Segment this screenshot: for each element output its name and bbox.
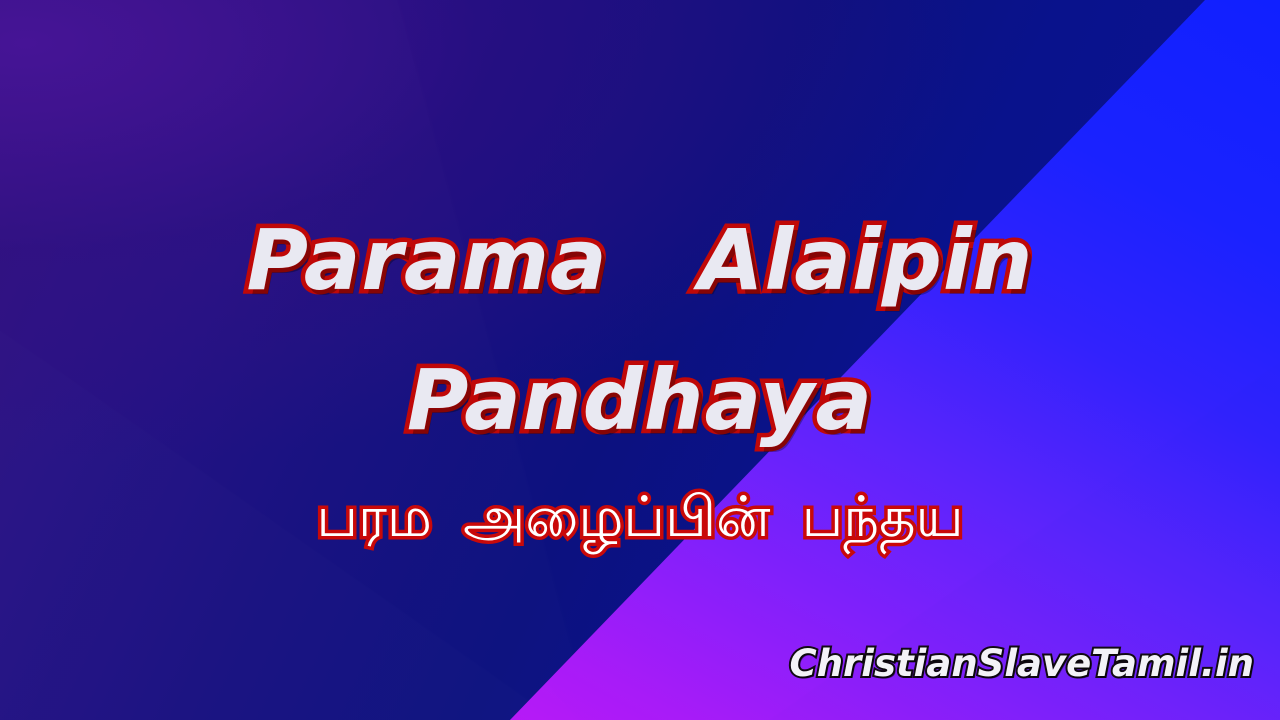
thumbnail-canvas: Parama Alaipin Pandhaya பரம அழைப்பின் பந… [0,0,1280,720]
title-line-1: Parama Alaipin [0,196,1280,324]
title-line-2: Pandhaya [0,336,1280,464]
title-block: Parama Alaipin Pandhaya [0,196,1280,464]
content-layer: Parama Alaipin Pandhaya பரம அழைப்பின் பந… [0,0,1280,720]
watermark-site-name: ChristianSlaveTamil.in [790,642,1254,686]
subtitle-tamil: பரம அழைப்பின் பந்தய [0,478,1280,556]
